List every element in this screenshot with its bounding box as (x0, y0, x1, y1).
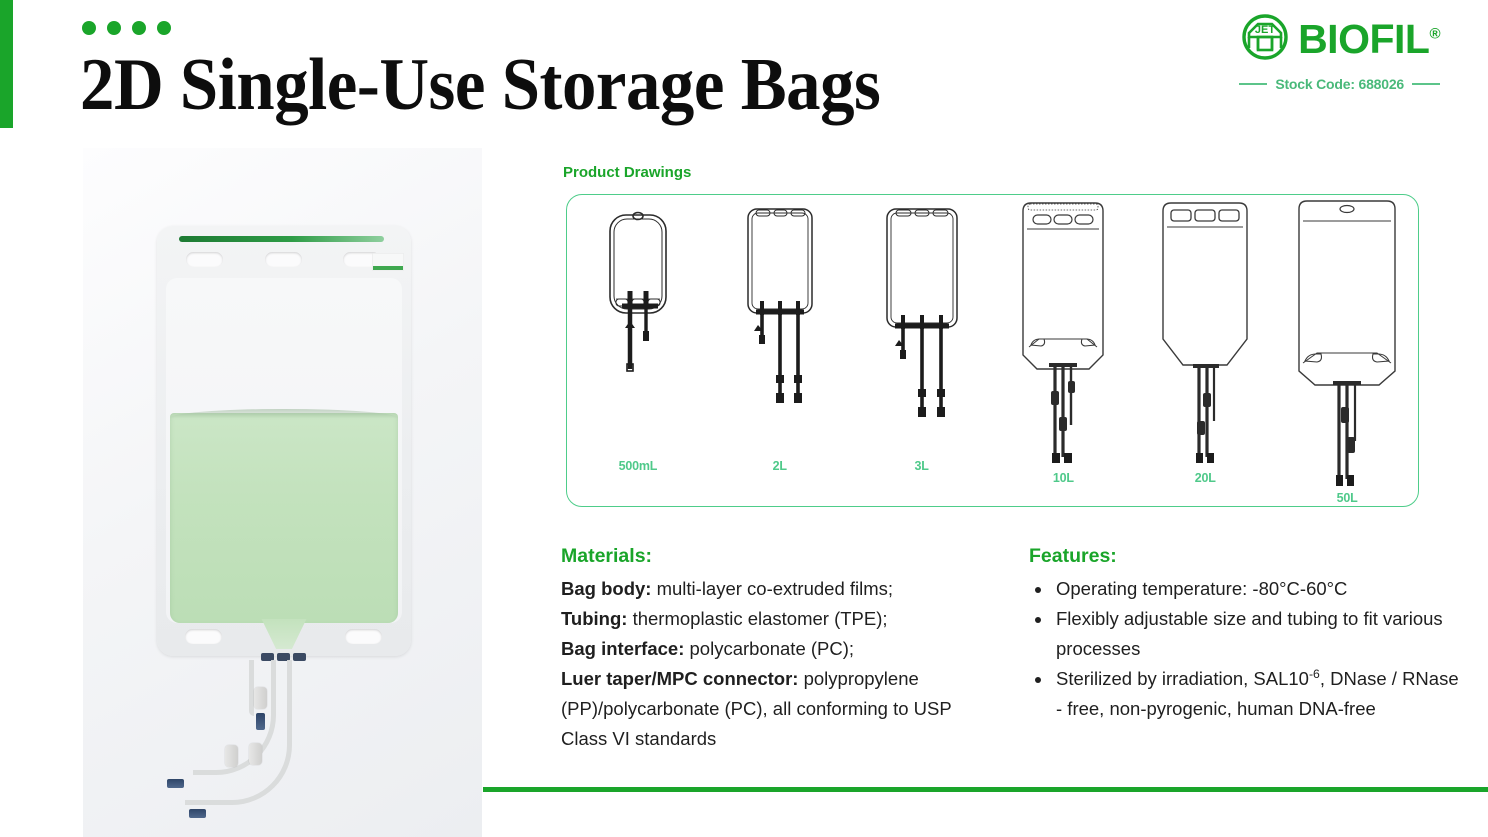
liquid-spout (251, 619, 317, 649)
tube-clamp (249, 743, 262, 765)
materials-term: Bag interface: (561, 638, 684, 659)
decorative-dot (157, 21, 171, 35)
storage-bag-photo (157, 226, 411, 656)
features-list: Operating temperature: -80°C-60°C Flexib… (1029, 574, 1461, 725)
rule-left (1239, 83, 1267, 85)
drawing-item: 20L (1134, 195, 1276, 485)
drawing-item: 10L (992, 195, 1134, 485)
hanger-slot (345, 629, 382, 644)
decorative-dot (82, 21, 96, 35)
bag-drawing-3l (879, 203, 965, 459)
page-title: 2D Single-Use Storage Bags (80, 48, 991, 122)
dot-row (82, 21, 171, 35)
materials-desc: polycarbonate (PC); (684, 638, 854, 659)
materials-term: Tubing: (561, 608, 627, 629)
materials-item: Bag body: multi-layer co-extruded films; (561, 574, 1001, 604)
drawing-item: 2L (709, 195, 851, 473)
brand-block: JET BIOFIL® Stock Code: 688026 (1140, 14, 1440, 92)
size-label: 50L (1337, 491, 1358, 505)
feature-superscript: -6 (1309, 667, 1320, 681)
luer-connector (189, 809, 206, 818)
hanger-slot (265, 252, 302, 267)
bag-drawing-20l (1153, 195, 1257, 471)
hanger-slot (185, 629, 222, 644)
feature-text-prefix: Sterilized by irradiation, SAL10 (1056, 668, 1309, 689)
bag-drawing-2l (740, 203, 820, 459)
hanger-slot (186, 252, 223, 267)
drawing-item: 500mL (567, 195, 709, 473)
materials-desc: thermoplastic elastomer (TPE); (627, 608, 887, 629)
rule-right (1412, 83, 1440, 85)
materials-term: Luer taper/MPC connector: (561, 668, 798, 689)
bag-drawing-500ml (602, 209, 674, 459)
jet-logo-icon: JET (1242, 14, 1288, 65)
liquid-fill (170, 413, 398, 623)
size-label: 500mL (619, 459, 658, 473)
brand-name: BIOFIL® (1298, 19, 1440, 60)
stock-code-label: Stock Code: 688026 (1275, 76, 1404, 92)
feature-item: Sterilized by irradiation, SAL10-6, DNas… (1053, 664, 1461, 724)
bag-port (293, 653, 306, 661)
tube-line (185, 660, 292, 805)
registered-mark-icon: ® (1429, 25, 1440, 42)
tubing-assembly (157, 653, 411, 833)
product-drawings-panel: 500mL (566, 194, 1419, 507)
drawings-row: 500mL (567, 195, 1418, 506)
tube-clamp (225, 745, 238, 767)
drawing-item: 50L (1276, 195, 1418, 505)
stock-code: Stock Code: 688026 (1140, 76, 1440, 92)
left-accent-bar (0, 0, 13, 128)
materials-section: Materials: Bag body: multi-layer co-extr… (561, 541, 1001, 755)
bag-drawing-50l (1291, 195, 1403, 491)
materials-item: Luer taper/MPC connector: polypropylene … (561, 664, 1001, 754)
materials-item: Tubing: thermoplastic elastomer (TPE); (561, 604, 1001, 634)
bottom-rule (483, 787, 1488, 792)
product-drawings-title: Product Drawings (563, 164, 691, 181)
materials-term: Bag body: (561, 578, 651, 599)
features-heading: Features: (1029, 541, 1461, 573)
drawing-item: 3L (851, 195, 993, 473)
bag-drawing-10l (1013, 195, 1113, 471)
tube-clamp (254, 687, 267, 709)
product-photo (83, 148, 482, 837)
feature-item: Flexibly adjustable size and tubing to f… (1053, 604, 1461, 664)
decorative-dot (107, 21, 121, 35)
bag-chamber (166, 278, 402, 623)
bag-top-seal (179, 236, 384, 242)
size-label: 2L (773, 459, 787, 473)
luer-connector (167, 779, 184, 788)
size-label: 10L (1053, 471, 1074, 485)
feature-item: Operating temperature: -80°C-60°C (1053, 574, 1461, 604)
luer-connector (256, 713, 265, 730)
materials-item: Bag interface: polycarbonate (PC); (561, 634, 1001, 664)
materials-heading: Materials: (561, 541, 1001, 573)
size-label: 20L (1195, 471, 1216, 485)
bag-product-label (372, 253, 404, 271)
svg-text:JET: JET (1255, 24, 1275, 36)
decorative-dot (132, 21, 146, 35)
size-label: 3L (914, 459, 928, 473)
materials-desc: multi-layer co-extruded films; (651, 578, 893, 599)
features-section: Features: Operating temperature: -80°C-6… (1029, 541, 1461, 724)
